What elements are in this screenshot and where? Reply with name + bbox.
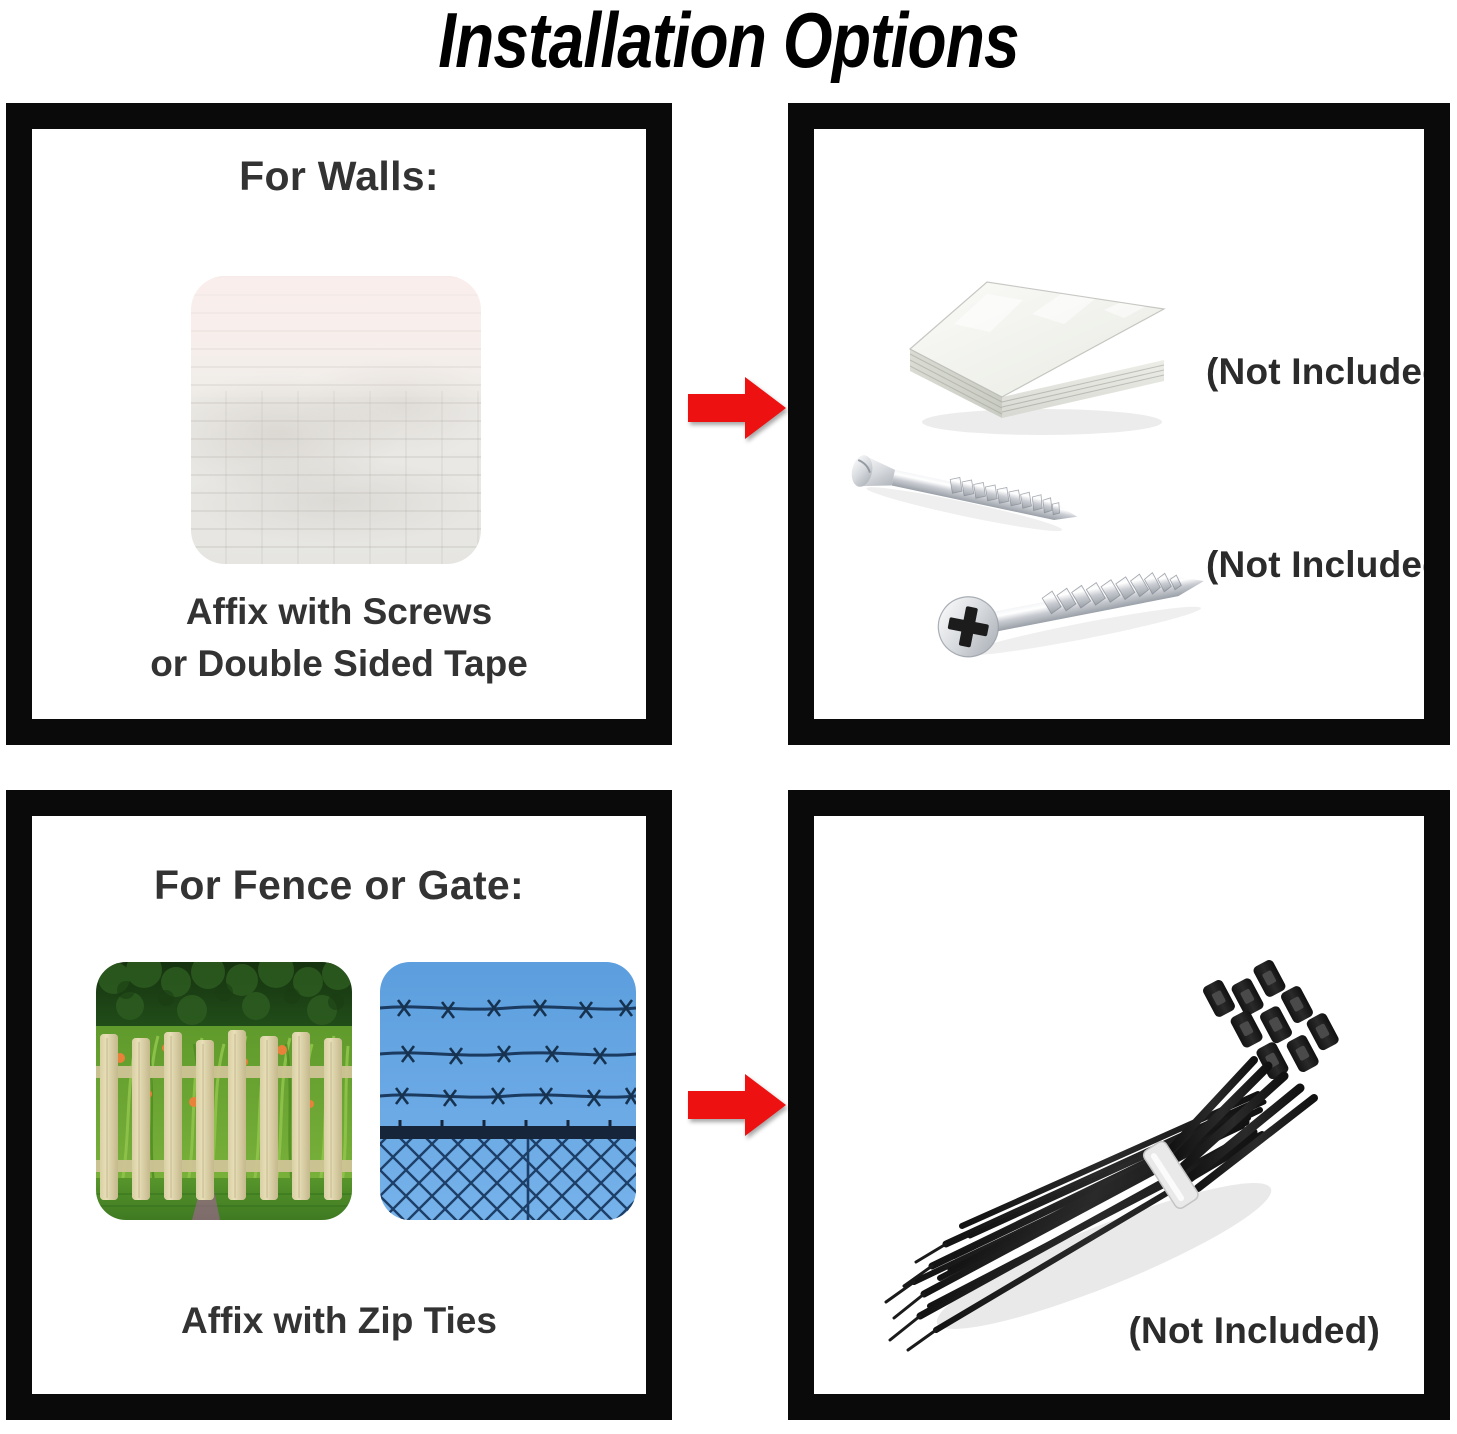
wooden-picket-fence-photo	[96, 962, 352, 1220]
arrow-walls-to-hardware-icon	[688, 375, 786, 441]
page-title: Installation Options	[131, 0, 1326, 86]
white-brick-wall-swatch	[191, 276, 481, 564]
for-fence-heading: For Fence or Gate:	[32, 862, 646, 909]
double-sided-tape-stack-icon	[892, 254, 1192, 444]
for-fence-caption: Affix with Zip Ties	[32, 1295, 646, 1348]
brick-top-tint	[191, 276, 481, 397]
chain-link-barbed-wire-fence-photo	[380, 962, 636, 1220]
panel-wall-hardware: (Not Included)	[788, 103, 1450, 745]
for-fence-caption-line-1: Affix with Zip Ties	[32, 1295, 646, 1348]
panel-fence-hardware: (Not Included)	[788, 790, 1450, 1420]
arrow-fence-to-hardware-icon	[688, 1072, 786, 1138]
panel-for-fence-or-gate: For Fence or Gate:	[6, 790, 672, 1420]
panel-for-walls: For Walls: Affix with Screws or Double S…	[6, 103, 672, 745]
infographic-page: Installation Options For Walls: Affix wi…	[0, 0, 1457, 1434]
for-walls-caption-line-2: or Double Sided Tape	[32, 638, 646, 691]
for-walls-caption-line-1: Affix with Screws	[32, 586, 646, 639]
zip-ties-bundle-icon	[854, 926, 1374, 1366]
panel-for-fence-or-gate-content: For Fence or Gate:	[32, 816, 646, 1394]
panel-fence-hardware-content: (Not Included)	[814, 816, 1424, 1394]
wood-screws-icon	[849, 449, 1249, 679]
panel-for-walls-content: For Walls: Affix with Screws or Double S…	[32, 129, 646, 719]
panel-wall-hardware-content: (Not Included)	[814, 129, 1424, 719]
tape-not-included-label: (Not Included)	[1206, 351, 1424, 393]
for-walls-heading: For Walls:	[32, 153, 646, 200]
screws-not-included-label: (Not Included)	[1206, 544, 1424, 586]
ziptie-not-included-label: (Not Included)	[1129, 1310, 1380, 1352]
for-walls-caption: Affix with Screws or Double Sided Tape	[32, 586, 646, 691]
